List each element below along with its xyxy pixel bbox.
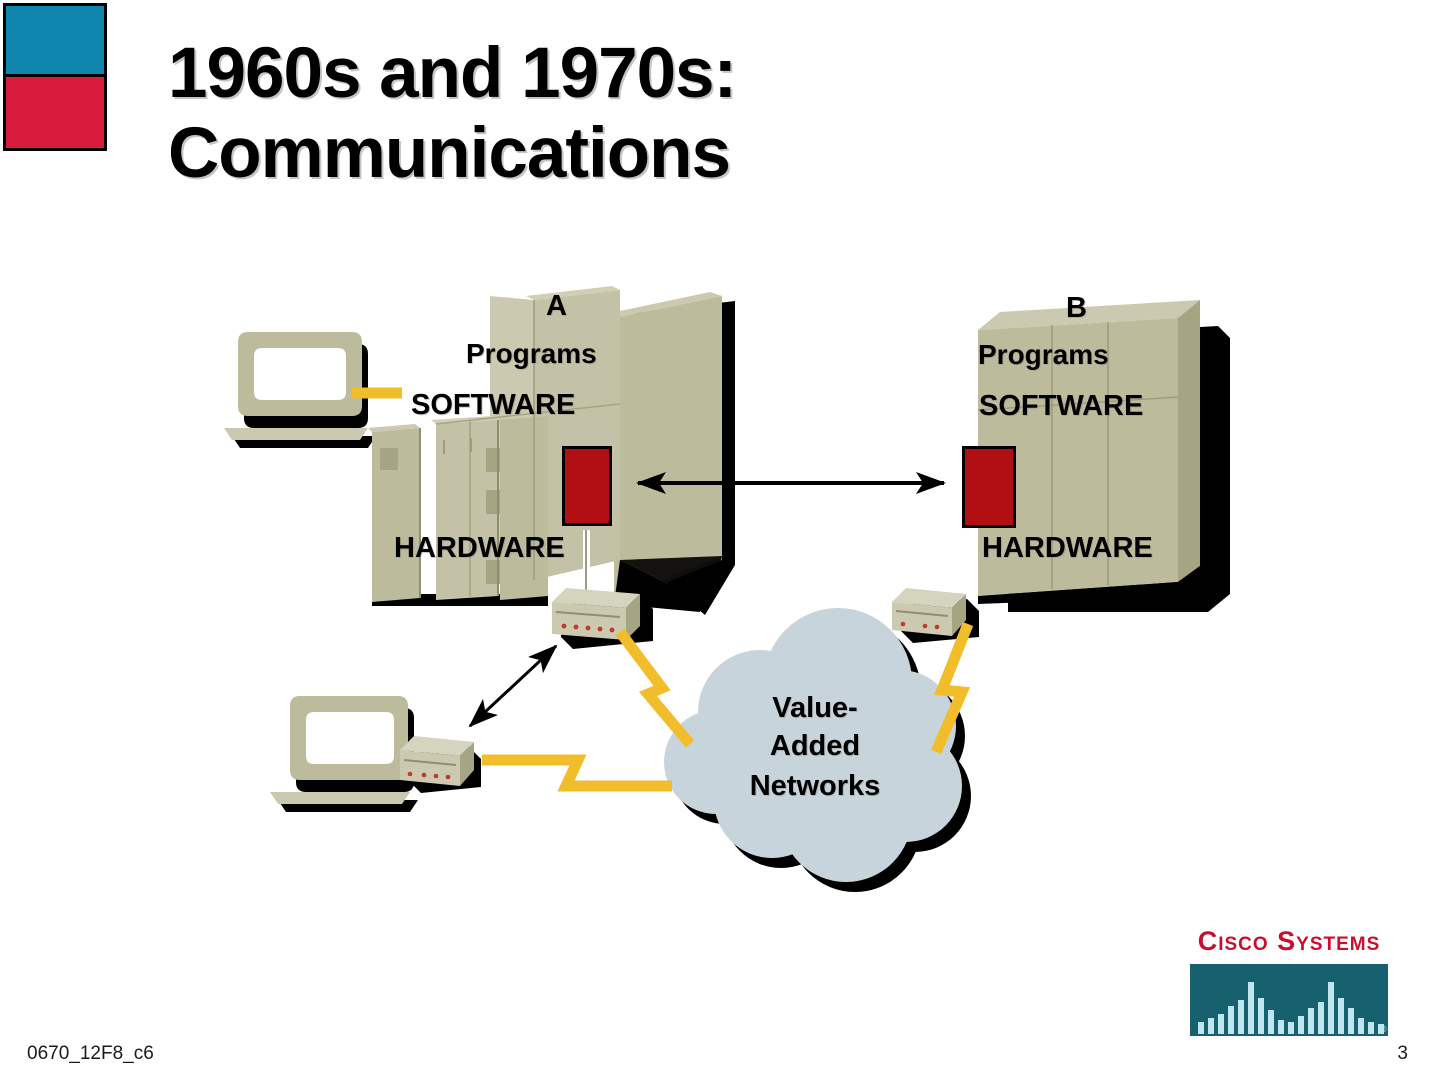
- mainframe-b-hardware-label: HARDWARE: [982, 532, 1153, 565]
- arrow-router-a-terminal[interactable]: [470, 646, 556, 726]
- router-a: [552, 588, 653, 649]
- terminal-bottom-left: [270, 696, 418, 812]
- mainframe-a: [368, 286, 735, 615]
- cloud-label-line-1: Value-: [700, 692, 930, 725]
- lightning-router-c-cloud: [482, 760, 672, 786]
- mainframe-a-software-label: SOFTWARE: [411, 389, 575, 422]
- mainframe-a-programs-label: Programs: [466, 338, 597, 370]
- lightning-router-a-cloud: [620, 632, 690, 744]
- mainframe-b-software-label: SOFTWARE: [979, 390, 1143, 423]
- mainframe-b-programs-label: Programs: [978, 339, 1109, 371]
- page-number: 3: [1397, 1043, 1408, 1065]
- cisco-bridge-graphic: ®: [1190, 964, 1388, 1036]
- cisco-systems-logo: Cisco Systems: [1183, 928, 1395, 1036]
- communications-diagram: [0, 0, 1440, 1080]
- mainframe-b-letter: B: [1066, 292, 1087, 325]
- mainframe-a-hardware-label: HARDWARE: [394, 532, 565, 565]
- cisco-wordmark: Cisco Systems: [1183, 928, 1395, 955]
- svg-text:®: ®: [1380, 1024, 1387, 1034]
- mainframe-a-letter: A: [546, 290, 567, 323]
- cloud-label-line-3: Networks: [700, 770, 930, 803]
- footer-document-code: 0670_12F8_c6: [27, 1043, 154, 1065]
- cloud-label-line-2: Added: [700, 730, 930, 763]
